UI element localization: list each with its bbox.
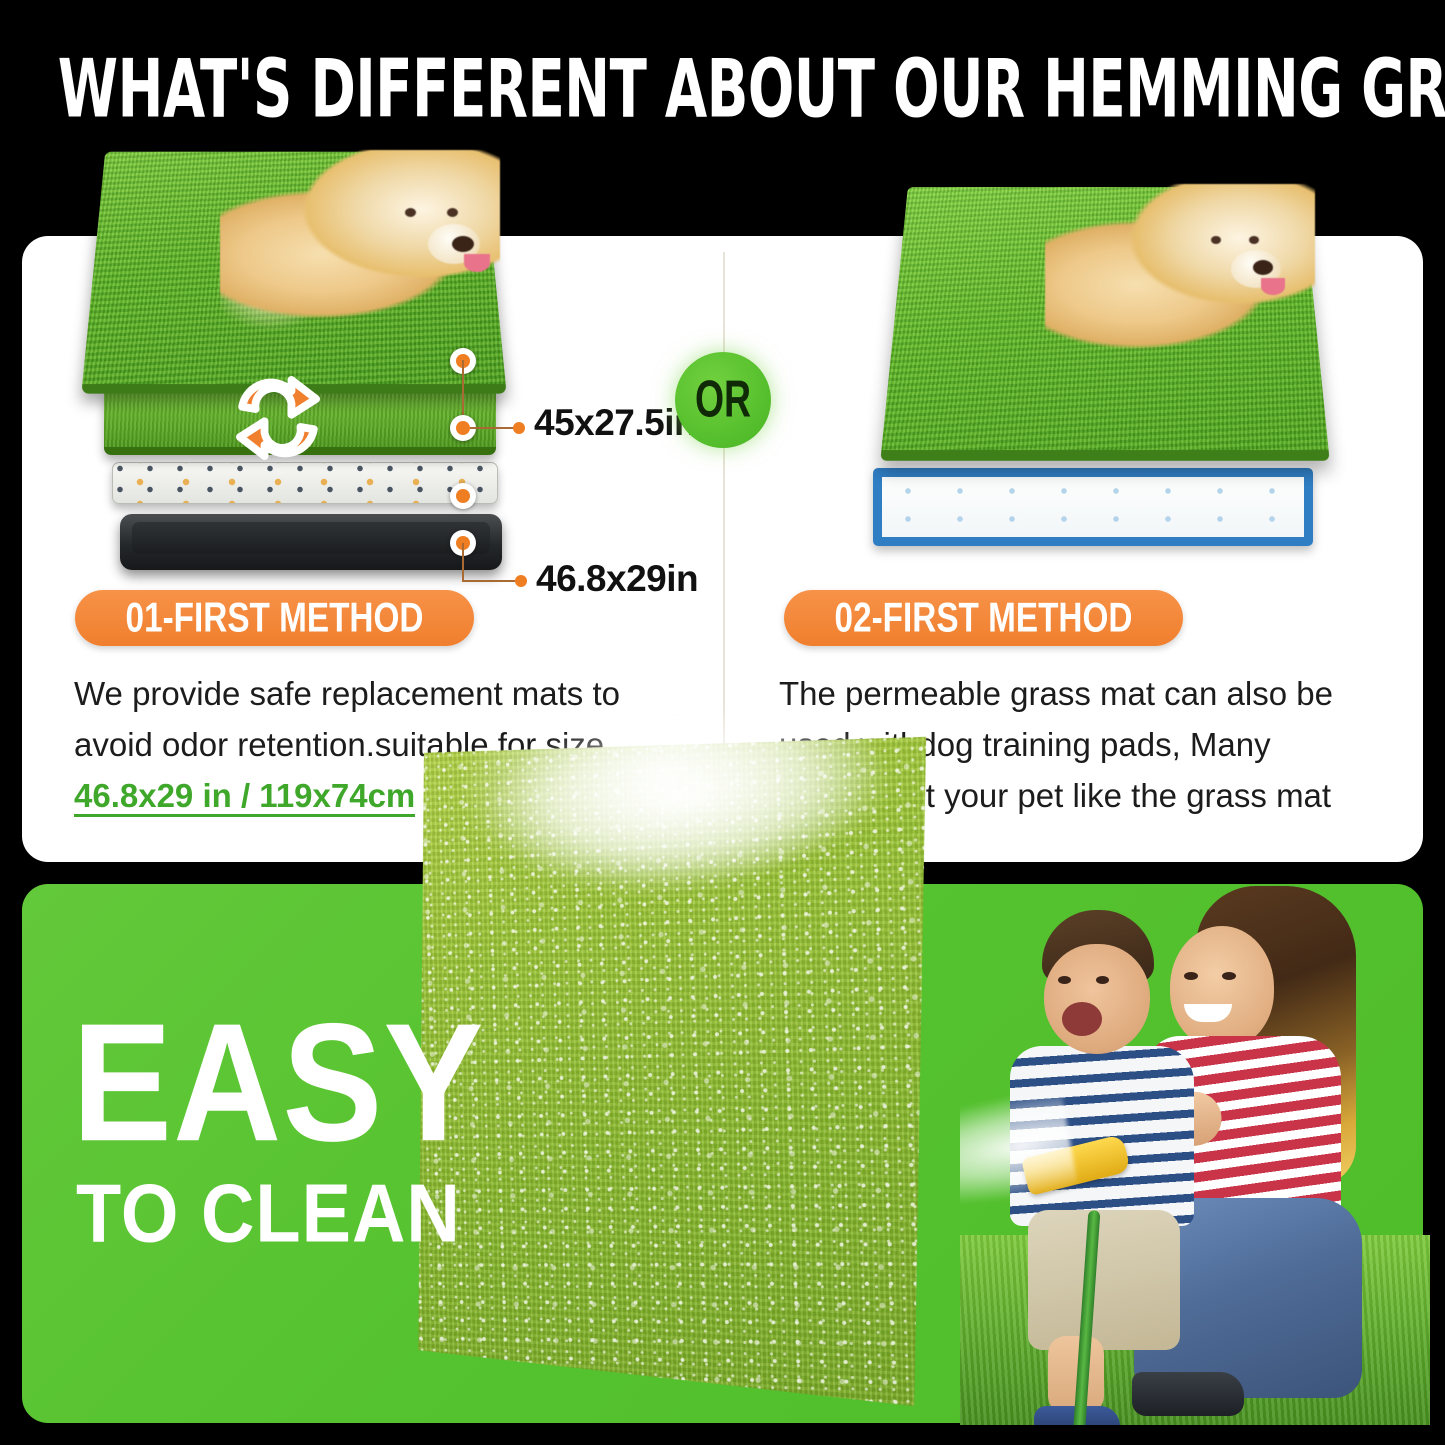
dog-eye-right <box>447 208 458 217</box>
feature-subtitle: TO CLEAN <box>76 1172 461 1255</box>
golden-retriever-right <box>1045 184 1315 364</box>
method-01-highlight: 46.8x29 in / 119x74cm <box>74 777 415 817</box>
dog-eye-left <box>405 208 416 217</box>
dog-tongue <box>464 254 490 272</box>
tray-inner <box>132 522 490 554</box>
page-title: WHAT'S DIFFERENT ABOUT OUR HEMMING GRASS… <box>58 42 1387 136</box>
product-right-image <box>855 150 1355 570</box>
method-badge-02: 02-FIRST METHOD <box>784 590 1183 646</box>
dog-eye-left <box>1211 236 1221 244</box>
method-badge-02-label: 02-FIRST METHOD <box>835 594 1133 641</box>
dog-eye-right <box>1249 236 1259 244</box>
black-tray-layer <box>120 514 502 570</box>
dimension-label-top: 45x27.5in <box>534 402 696 444</box>
mother-and-child-hose-photo <box>960 800 1430 1425</box>
woman-eye-right <box>1222 972 1236 980</box>
or-badge-label: OR <box>695 371 751 430</box>
boy-figure <box>1000 910 1200 1380</box>
boy-eye-left <box>1058 976 1071 984</box>
boy-open-mouth <box>1062 1002 1102 1036</box>
callout-leader-vertical-bottom <box>462 543 464 581</box>
boy-eye-right <box>1096 976 1109 984</box>
boy-shorts <box>1028 1210 1180 1350</box>
recycle-icon <box>222 362 334 474</box>
training-pad-layer <box>873 468 1313 546</box>
method-badge-01: 01-FIRST METHOD <box>75 590 474 646</box>
dog-nose <box>452 236 474 252</box>
callout-leader-horizontal-bottom <box>462 580 520 582</box>
dog-nose <box>1253 260 1273 275</box>
or-badge: OR <box>675 352 771 448</box>
water-spray-highlight <box>428 682 908 925</box>
method-badge-01-label: 01-FIRST METHOD <box>126 594 424 641</box>
feature-title: EASY <box>72 998 484 1166</box>
callout-leader-horizontal-top <box>470 427 518 429</box>
infographic-page: WHAT'S DIFFERENT ABOUT OUR HEMMING GRASS… <box>0 0 1445 1445</box>
dimension-label-bottom: 46.8x29in <box>536 558 698 600</box>
callout-tip-top <box>513 422 525 434</box>
golden-retriever-left <box>220 150 500 330</box>
callout-tip-bottom <box>515 575 527 587</box>
boy-face <box>1044 944 1150 1054</box>
callout-dot-pad <box>450 483 476 509</box>
dog-tongue <box>1261 278 1285 295</box>
